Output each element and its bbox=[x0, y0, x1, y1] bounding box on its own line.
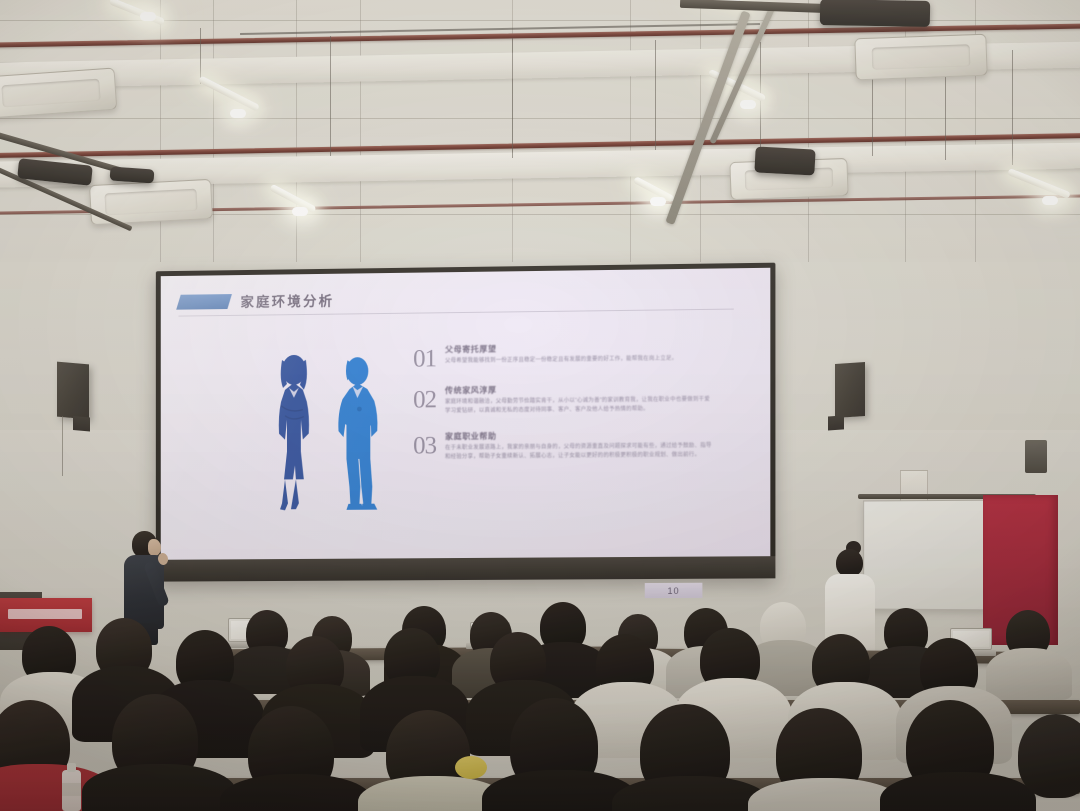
audience-head bbox=[1018, 714, 1080, 798]
bullet-body: 在于未职业发展道路上，我家的亲朋与自身的，父母的资源重直及问题探求可能有些，通过… bbox=[445, 441, 715, 462]
silhouette-figures bbox=[263, 345, 398, 514]
hair-scrunchie bbox=[455, 756, 487, 779]
slide-header: 家庭环境分析 bbox=[178, 290, 334, 312]
bullet-number: 01 bbox=[413, 344, 436, 371]
ceiling-projector bbox=[110, 166, 155, 183]
bullet-body: 家庭环境和谐融洽，父母勤劳节俭踏实肯干，从小以“心诚为善”的家训教育我，让我在职… bbox=[445, 395, 715, 416]
standing-person-head bbox=[836, 549, 863, 577]
audience-shoulders bbox=[220, 774, 372, 811]
bullet-item: 03 家庭职业帮助 在于未职业发展道路上，我家的亲朋与自身的，父母的资源重直及问… bbox=[413, 428, 714, 462]
ceiling-projector bbox=[820, 0, 930, 27]
fluorescent-light-glow bbox=[140, 12, 156, 21]
bullet-heading: 传统家风淳厚 bbox=[445, 382, 715, 396]
ceiling-ac-unit bbox=[854, 34, 987, 81]
wall-control-box bbox=[1025, 440, 1047, 473]
title-accent-flag bbox=[176, 294, 232, 310]
slide-title: 家庭环境分析 bbox=[241, 290, 335, 311]
fluorescent-light-glow bbox=[230, 109, 246, 118]
audience-shoulders bbox=[880, 772, 1036, 811]
fluorescent-light-glow bbox=[650, 197, 666, 206]
water-bottle bbox=[62, 770, 81, 811]
bullet-body: 父母希望我能够找到一份正序且稳定一份稳定且有发展的重要的好工作，能帮我在岗上立足… bbox=[445, 354, 715, 366]
audience bbox=[0, 588, 1080, 811]
wall-speaker bbox=[835, 362, 865, 418]
bullet-number: 02 bbox=[413, 385, 436, 417]
ceiling-projector bbox=[754, 146, 815, 175]
bullet-item: 01 父母寄托厚望 父母希望我能够找到一份正序且稳定一份稳定且有发展的重要的好工… bbox=[413, 341, 714, 372]
wall-speaker bbox=[57, 362, 89, 420]
presentation-slide: 家庭环境分析 bbox=[161, 268, 771, 560]
fluorescent-light-glow bbox=[1042, 196, 1058, 205]
audience-shoulders bbox=[986, 648, 1072, 700]
bullet-item: 02 传统家风淳厚 家庭环境和谐融洽，父母勤劳节俭踏实肯干，从小以“心诚为善”的… bbox=[413, 382, 714, 417]
bullet-number: 03 bbox=[413, 431, 436, 463]
screen-bezel bbox=[156, 556, 776, 581]
bullet-heading: 父母寄托厚望 bbox=[445, 341, 715, 355]
fluorescent-light-glow bbox=[292, 207, 308, 216]
display-screen-frame: 家庭环境分析 bbox=[156, 263, 776, 582]
audience-shoulders bbox=[82, 764, 236, 811]
male-silhouette bbox=[327, 355, 395, 511]
audience-shoulders bbox=[748, 778, 902, 811]
slide-bullet-list: 01 父母寄托厚望 父母希望我能够找到一份正序且稳定一份稳定且有发展的重要的好工… bbox=[413, 341, 714, 477]
speaker-wire bbox=[62, 416, 63, 476]
bullet-heading: 家庭职业帮助 bbox=[445, 428, 715, 442]
lecture-hall-photo: 家庭环境分析 bbox=[0, 0, 1080, 811]
female-silhouette bbox=[263, 354, 324, 514]
audience-shoulders bbox=[612, 776, 770, 811]
fluorescent-light-glow bbox=[740, 100, 756, 109]
